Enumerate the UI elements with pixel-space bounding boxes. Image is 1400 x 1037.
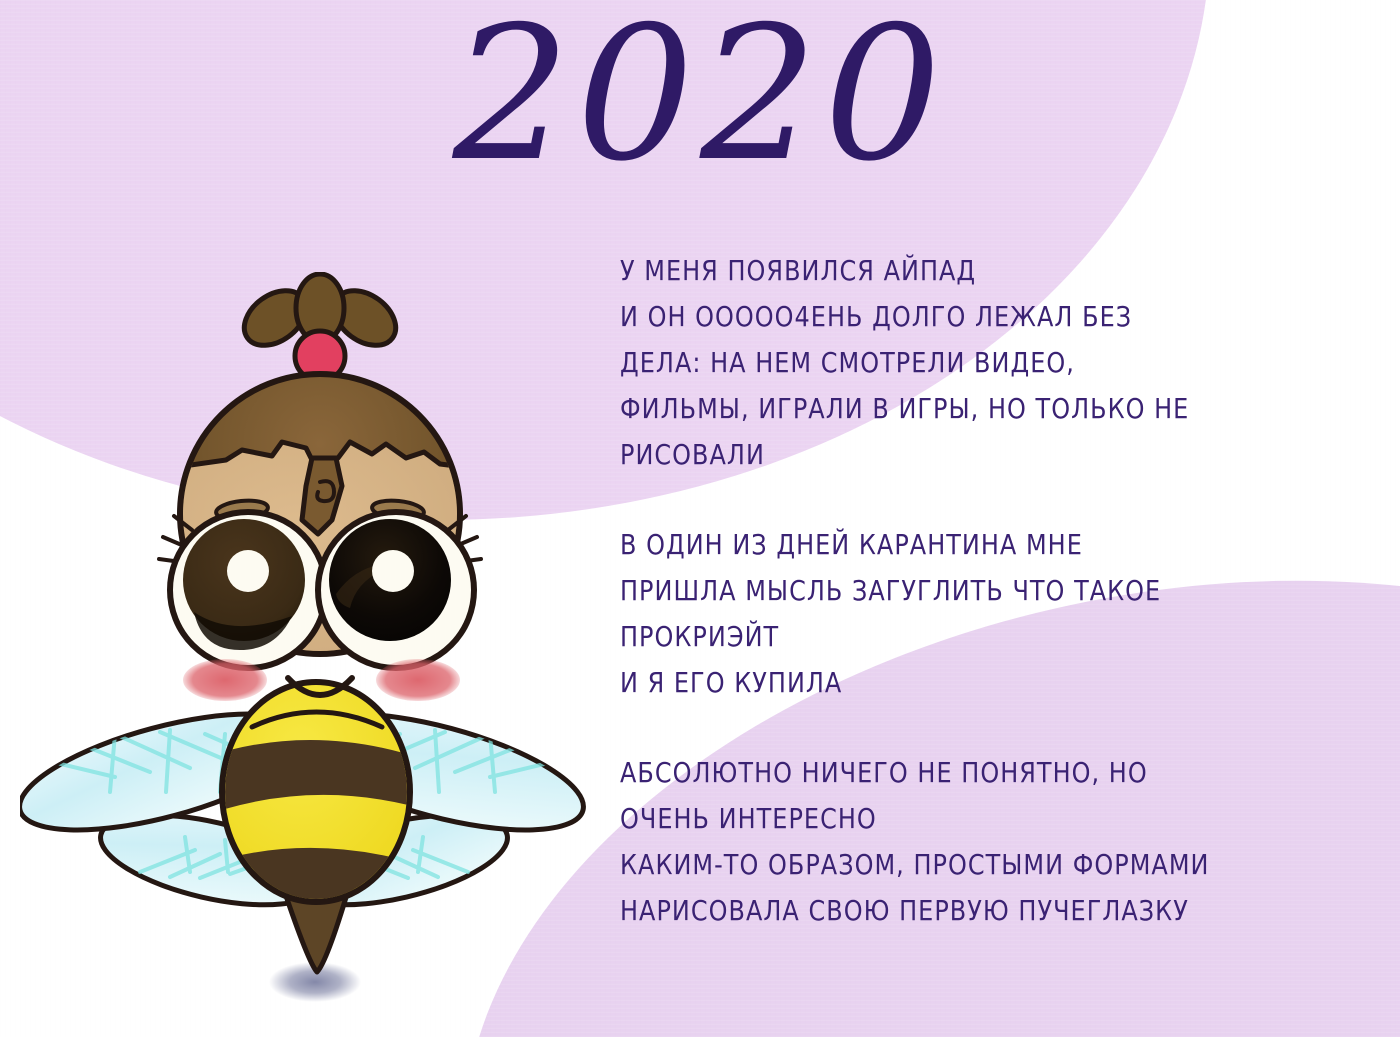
poster-canvas: 2020 bbox=[0, 0, 1400, 1037]
eye-left bbox=[170, 512, 326, 668]
eye-right-highlight bbox=[372, 550, 414, 592]
flower-hair-clip bbox=[234, 274, 406, 381]
blush-left bbox=[183, 659, 267, 701]
page-title: 2020 bbox=[0, 2, 1400, 187]
bee-illustration bbox=[20, 272, 620, 1012]
bee-body bbox=[215, 682, 420, 972]
story-paragraph-3: АБСОЛЮТНО НИЧЕГО НЕ ПОНЯТНО, НО ОЧЕНЬ ИН… bbox=[620, 750, 1323, 934]
story-paragraph-1: У МЕНЯ ПОЯВИЛСЯ АЙПАД И ОН ООООО4ЕНЬ ДОЛ… bbox=[620, 248, 1323, 478]
eye-right bbox=[318, 512, 474, 668]
story-text: У МЕНЯ ПОЯВИЛСЯ АЙПАД И ОН ООООО4ЕНЬ ДОЛ… bbox=[620, 248, 1360, 934]
blush-right bbox=[376, 659, 460, 701]
eye-left-highlight bbox=[227, 550, 269, 592]
head bbox=[159, 274, 481, 701]
story-paragraph-2: В ОДИН ИЗ ДНЕЙ КАРАНТИНА МНЕ ПРИШЛА МЫСЛ… bbox=[620, 522, 1323, 706]
